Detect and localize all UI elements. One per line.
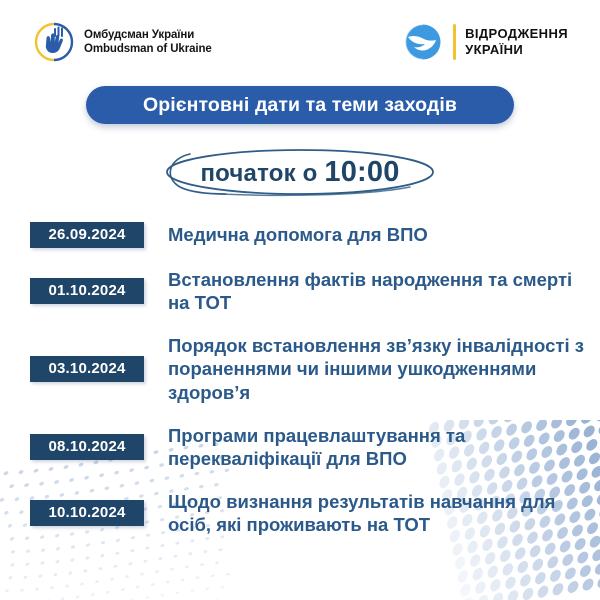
schedule-row: 08.10.2024 Програми працевлаштування та … xyxy=(0,424,600,470)
poster-header: Омбудсман України Ombudsman of Ukraine В… xyxy=(0,0,600,86)
ombudsman-logo-text: Омбудсман України Ombudsman of Ukraine xyxy=(84,28,212,56)
event-topic: Щодо визнання результатів навчання для о… xyxy=(168,490,586,536)
schedule-row: 26.09.2024 Медична допомога для ВПО xyxy=(0,222,600,248)
schedule-row: 01.10.2024 Встановлення фактів народженн… xyxy=(0,268,600,314)
ombudsman-logo: Омбудсман України Ombudsman of Ukraine xyxy=(32,20,212,64)
event-topic: Медична допомога для ВПО xyxy=(168,223,428,246)
event-date-badge: 03.10.2024 xyxy=(30,356,144,382)
schedule-row: 10.10.2024 Щодо визнання результатів нав… xyxy=(0,490,600,536)
page-title-banner: Орієнтовні дати та теми заходів xyxy=(86,86,514,124)
start-time-prefix: початок о xyxy=(200,160,324,187)
event-date-badge: 08.10.2024 xyxy=(30,434,144,460)
vidrodzhennia-line-1: ВІДРОДЖЕННЯ xyxy=(465,26,568,42)
event-topic: Встановлення фактів народження та смерті… xyxy=(168,268,586,314)
schedule-list: 26.09.2024 Медична допомога для ВПО 01.1… xyxy=(0,222,600,556)
logo-divider xyxy=(453,24,456,60)
poster-canvas: Омбудсман України Ombudsman of Ukraine В… xyxy=(0,0,600,600)
vidrodzhennia-line-2: УКРАЇНИ xyxy=(465,42,568,58)
page-title: Орієнтовні дати та теми заходів xyxy=(143,94,457,117)
start-time-value: 10:00 xyxy=(324,156,399,188)
event-date-badge: 01.10.2024 xyxy=(30,278,144,304)
ombudsman-logo-line-uk: Омбудсман України xyxy=(84,29,212,43)
schedule-row: 03.10.2024 Порядок встановлення зв’язку … xyxy=(0,334,600,403)
vidrodzhennia-logo-text: ВІДРОДЖЕННЯ УКРАЇНИ xyxy=(465,26,568,58)
ombudsman-logo-line-en: Ombudsman of Ukraine xyxy=(84,43,212,57)
ombudsman-hand-trident-logo-icon xyxy=(32,20,76,64)
event-date-badge: 26.09.2024 xyxy=(30,222,144,248)
event-date-badge: 10.10.2024 xyxy=(30,500,144,526)
start-time-text: початок о 10:00 xyxy=(200,156,399,189)
event-topic: Порядок встановлення зв’язку інвалідност… xyxy=(168,334,586,403)
bird-in-circle-logo-icon xyxy=(402,21,444,63)
vidrodzhennia-ukrainy-logo: ВІДРОДЖЕННЯ УКРАЇНИ xyxy=(402,21,568,63)
start-time-callout: початок о 10:00 xyxy=(160,145,440,199)
event-topic: Програми працевлаштування та перекваліфі… xyxy=(168,424,586,470)
